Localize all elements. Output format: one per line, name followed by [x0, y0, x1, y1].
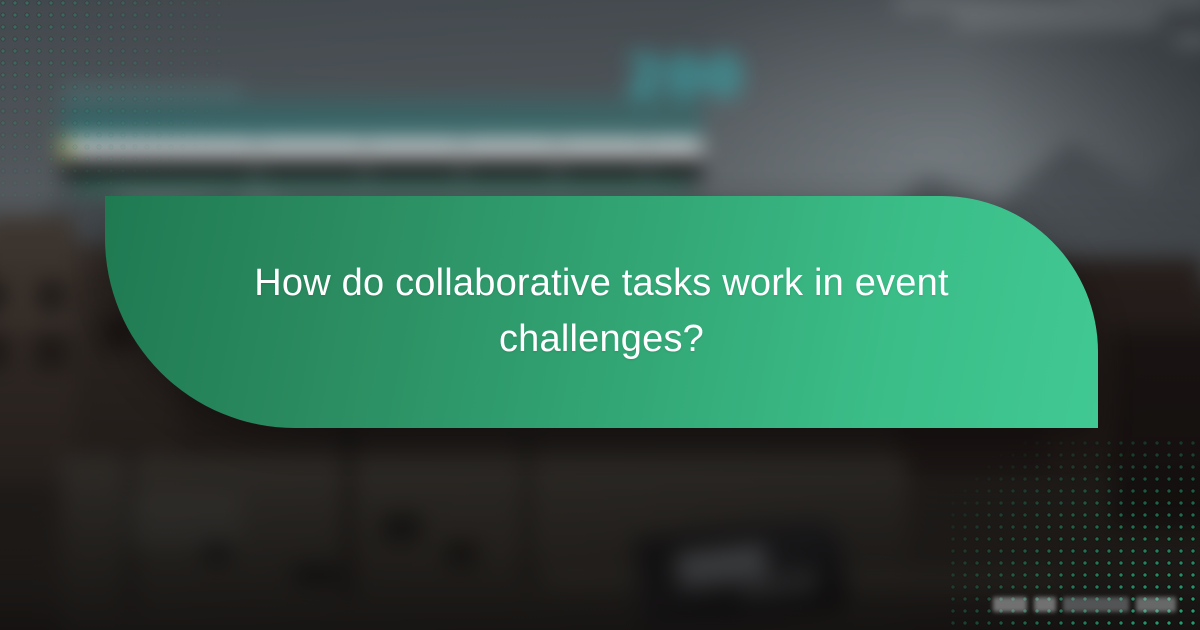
- watermark-text: [1136, 597, 1176, 612]
- watermark: [993, 597, 1176, 612]
- watermark-mark: [993, 597, 1027, 612]
- watermark-text: [1063, 597, 1129, 612]
- watermark-mark: [1034, 597, 1056, 612]
- card-canvas: 200: [0, 0, 1200, 630]
- question-title: How do collaborative tasks work in event…: [222, 256, 982, 368]
- question-banner: How do collaborative tasks work in event…: [105, 196, 1098, 428]
- halftone-dots-top-left: [0, 0, 230, 200]
